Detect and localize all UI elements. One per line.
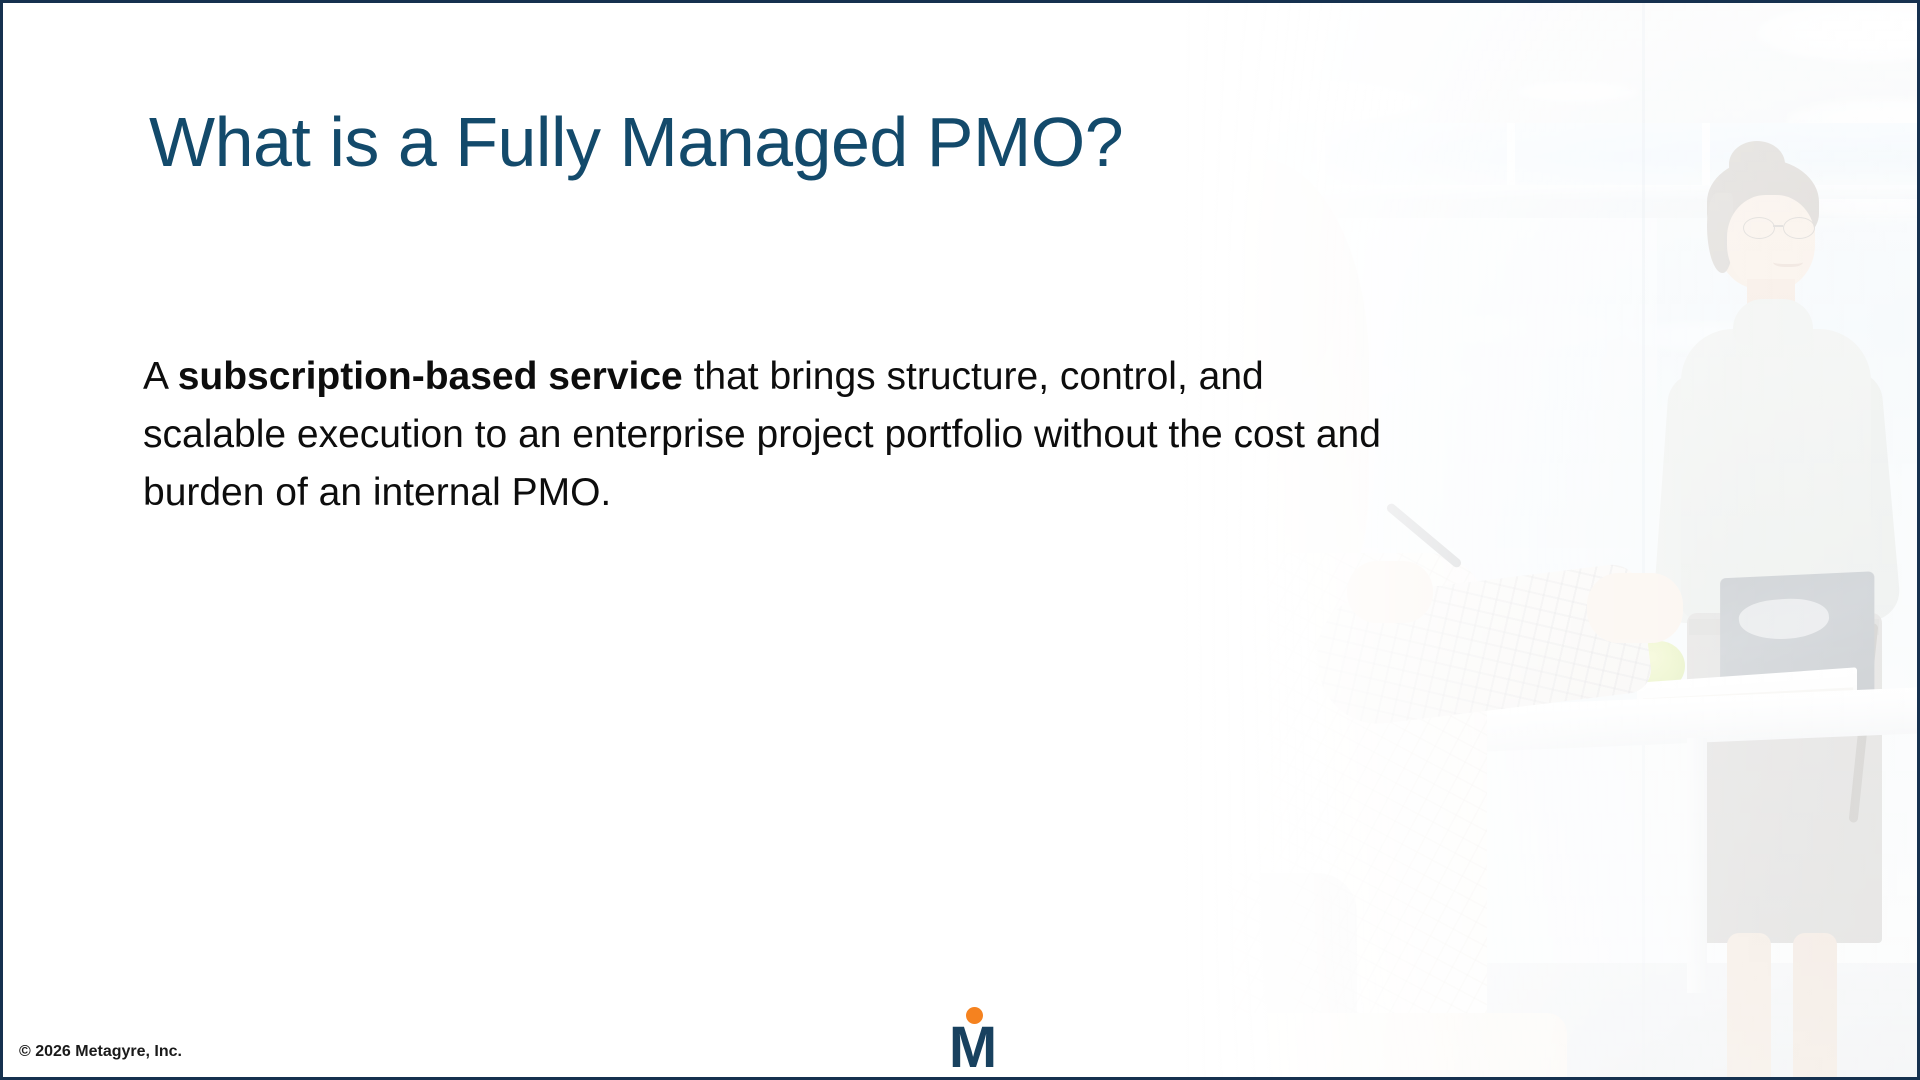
hand — [1347, 561, 1433, 623]
lap — [1167, 1013, 1567, 1080]
body-paragraph: A subscription-based service that brings… — [143, 348, 1413, 522]
ceiling-light — [1177, 81, 1427, 123]
standing-presenter — [1597, 133, 1917, 893]
footer-copyright: © 2026 Metagyre, Inc. — [19, 1043, 182, 1061]
photo-base — [997, 3, 1917, 1080]
body-lead: A — [143, 355, 178, 398]
logo-letter-m: M — [943, 1027, 1003, 1069]
glasses-icon — [1743, 217, 1825, 237]
turtleneck-collar — [1733, 299, 1813, 345]
table-leg — [1687, 738, 1707, 993]
ceiling-light — [1517, 81, 1637, 103]
smile — [1773, 255, 1803, 267]
leg — [1727, 933, 1771, 1080]
leg — [1793, 933, 1837, 1080]
seated-colleague — [1017, 173, 1537, 1080]
body-emphasis: subscription-based service — [178, 355, 683, 398]
page-title: What is a Fully Managed PMO? — [149, 102, 1123, 182]
metagyre-logo: M — [943, 1003, 1003, 1069]
hand — [1587, 573, 1683, 643]
background-photo — [997, 3, 1917, 1080]
face — [1727, 195, 1815, 291]
slide: What is a Fully Managed PMO? A subscript… — [0, 0, 1920, 1080]
